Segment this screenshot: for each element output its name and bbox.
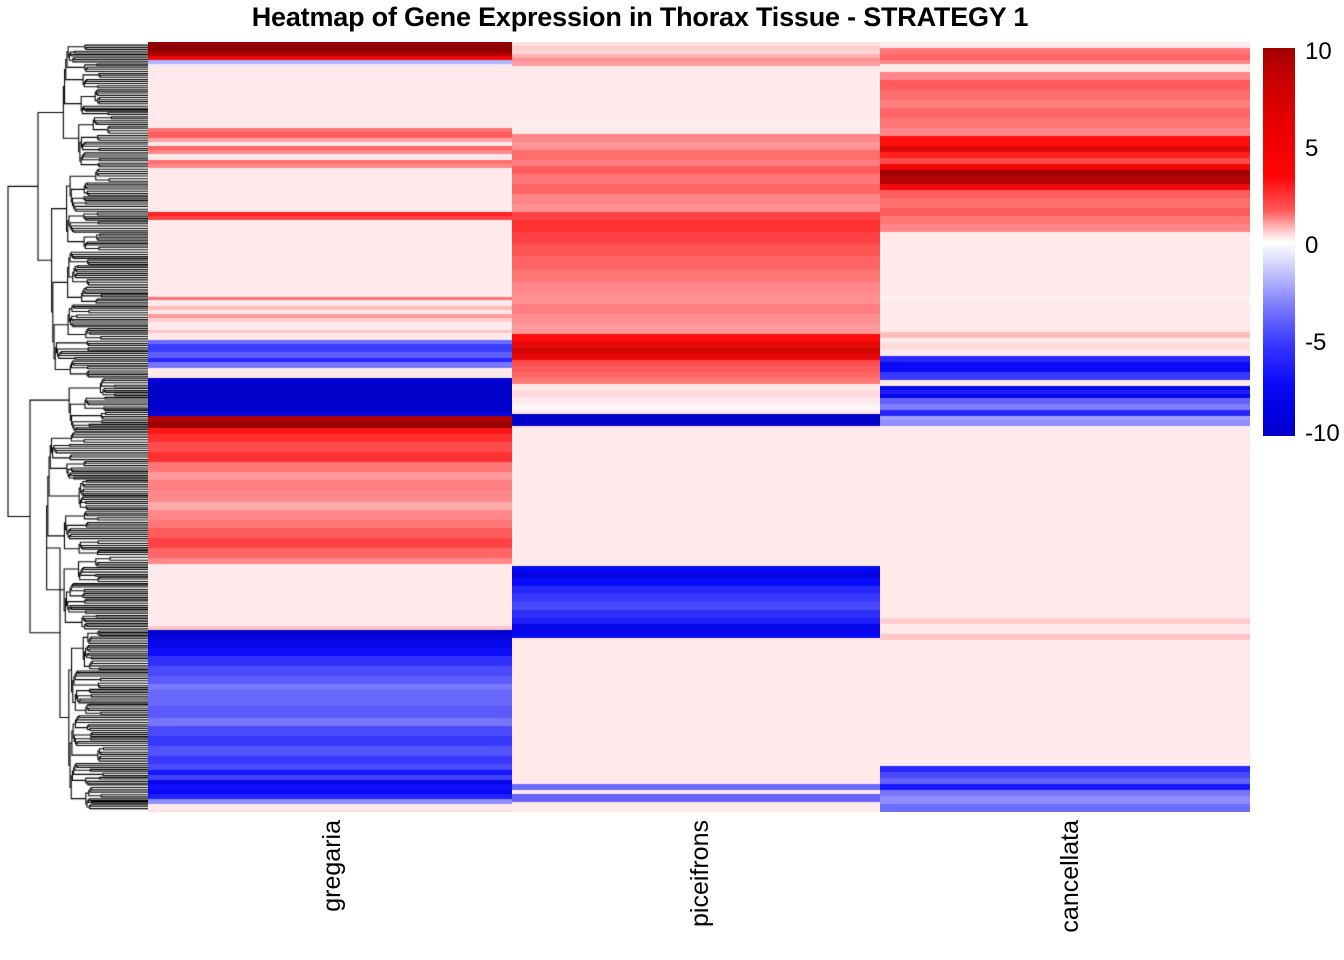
- column-label-piceifrons: piceifrons: [686, 820, 715, 927]
- column-label-gregaria: gregaria: [318, 820, 347, 912]
- colorbar-tick-5: 5: [1305, 135, 1318, 163]
- colorbar-tick-neg5: -5: [1305, 329, 1326, 357]
- heatmap-plot: [0, 42, 1344, 817]
- heatmap-column-gregaria[interactable]: [148, 42, 512, 812]
- heatmap-column-cancellata[interactable]: [880, 42, 1250, 812]
- colorbar-tick-10: 10: [1305, 38, 1332, 66]
- colorbar: 10 5 0 -5 -10: [1263, 48, 1295, 436]
- heatmap-grid: [148, 42, 1250, 812]
- colorbar-tick-0: 0: [1305, 232, 1318, 260]
- heatmap-column-piceifrons[interactable]: [512, 42, 880, 812]
- column-label-cancellata: cancellata: [1056, 820, 1085, 933]
- row-dendrogram: [0, 42, 148, 812]
- colorbar-tick-neg10: -10: [1305, 420, 1340, 448]
- page-title: Heatmap of Gene Expression in Thorax Tis…: [0, 2, 1280, 33]
- colorbar-gradient: [1263, 48, 1295, 436]
